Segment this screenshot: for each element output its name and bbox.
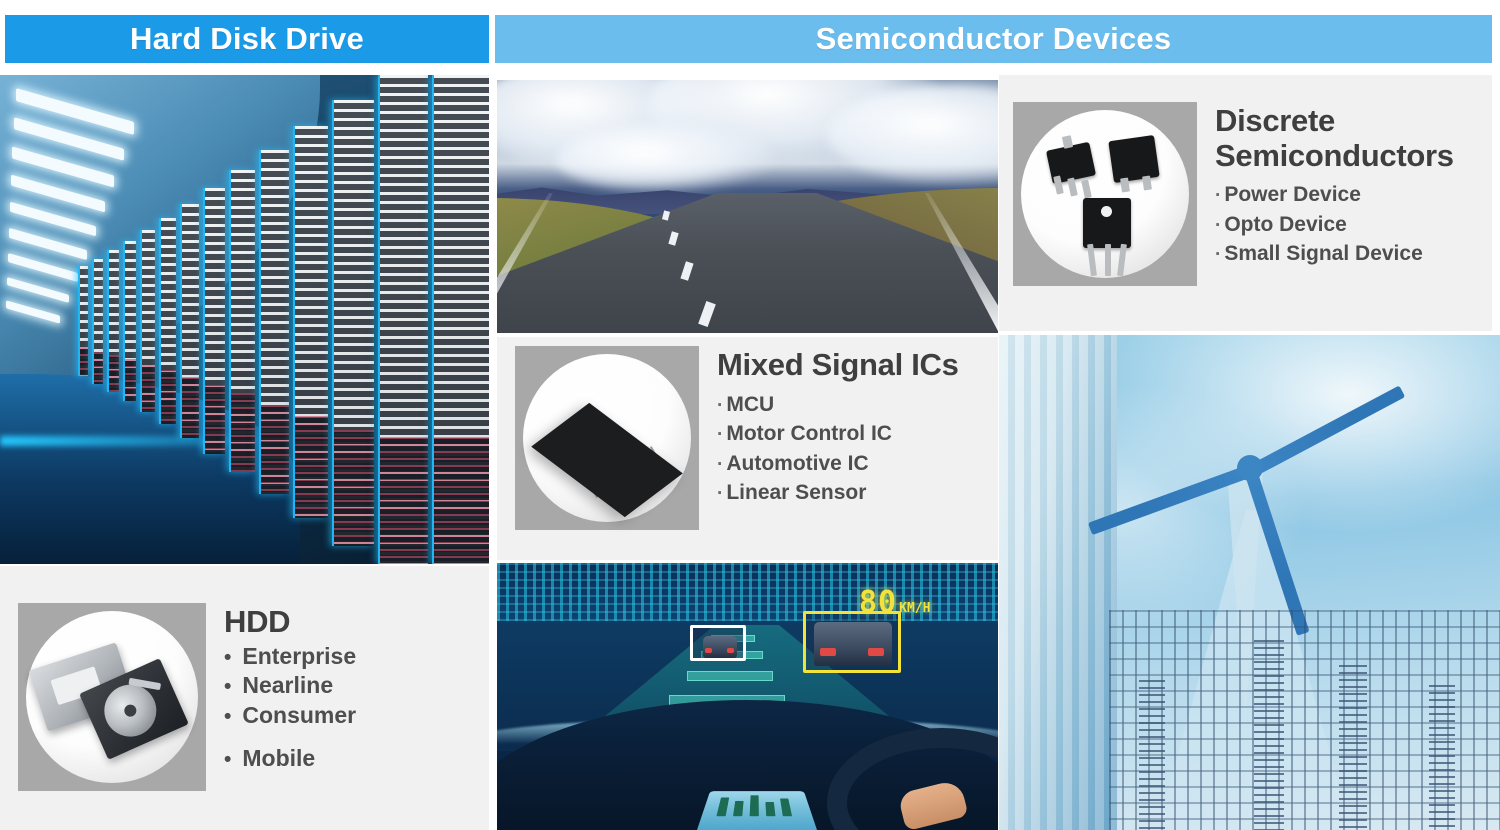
server-rack xyxy=(332,100,374,546)
slide-root: Hard Disk Drive Semiconductor Devices xyxy=(0,0,1500,830)
list-item-label: Motor Control IC xyxy=(726,419,892,448)
list-item[interactable]: · Linear Sensor xyxy=(717,478,959,507)
bullet-icon: · xyxy=(717,393,723,419)
card-discrete-title-line1: Discrete xyxy=(1215,104,1454,139)
bullet-icon: · xyxy=(717,422,723,448)
nav-bar xyxy=(733,801,744,816)
bullet-icon: • xyxy=(224,645,231,672)
server-rack xyxy=(140,230,155,412)
server-rack xyxy=(378,75,428,564)
list-item-label: Nearline xyxy=(242,671,333,700)
card-discrete-title: Discrete Semiconductors xyxy=(1215,104,1454,173)
list-item[interactable]: · Small Signal Device xyxy=(1215,239,1454,268)
nav-bar xyxy=(765,802,775,816)
bullet-icon: · xyxy=(717,452,723,478)
floor-led-glow xyxy=(0,436,300,446)
list-item[interactable]: • Mobile xyxy=(224,744,356,774)
hud-speed-value: 80 xyxy=(859,585,897,620)
card-hdd-body: HDD • Enterprise • Nearline • Consumer •… xyxy=(206,603,356,830)
server-rack xyxy=(229,170,255,472)
server-rack xyxy=(293,126,328,518)
card-discrete-list: · Power Device · Opto Device · Small Sig… xyxy=(1215,180,1454,268)
list-item-label: Consumer xyxy=(242,701,356,730)
list-item[interactable]: • Consumer xyxy=(224,701,356,731)
bullet-icon: • xyxy=(224,674,231,701)
list-item-label: MCU xyxy=(726,390,774,419)
taillight xyxy=(820,648,836,656)
cloud xyxy=(557,124,777,194)
car-adas-photo: 80KM/H xyxy=(497,563,998,830)
card-discrete-semiconductors[interactable]: Discrete Semiconductors · Power Device ·… xyxy=(999,75,1492,331)
bullet-icon: • xyxy=(224,747,231,774)
list-item[interactable]: • Nearline xyxy=(224,671,356,701)
server-rack xyxy=(180,204,199,438)
road-photo xyxy=(497,80,998,333)
card-discrete-title-line2: Semiconductors xyxy=(1215,139,1454,174)
server-rack xyxy=(432,75,489,564)
list-item[interactable]: · Motor Control IC xyxy=(717,419,959,448)
header-tab-semiconductor-devices[interactable]: Semiconductor Devices xyxy=(495,15,1492,63)
nav-bar xyxy=(780,799,792,817)
nav-bar xyxy=(716,797,729,816)
transmission-pylon xyxy=(1139,680,1165,830)
hud-speed-unit: KM/H xyxy=(899,601,930,616)
list-item[interactable]: • Enterprise xyxy=(224,642,356,672)
list-item-label: Automotive IC xyxy=(726,449,868,478)
taillight xyxy=(868,648,884,656)
header-tab-hard-disk-drive-label: Hard Disk Drive xyxy=(130,21,364,57)
list-item-label: Power Device xyxy=(1224,180,1361,209)
bullet-icon: · xyxy=(1215,183,1221,209)
bullet-icon: · xyxy=(1215,242,1221,268)
card-mixed-body: Mixed Signal ICs · MCU · Motor Control I… xyxy=(699,346,959,560)
industrial-machine xyxy=(999,335,1117,830)
card-mixed-title: Mixed Signal ICs xyxy=(717,348,959,383)
list-item[interactable]: · Opto Device xyxy=(1215,210,1454,239)
lane-marker xyxy=(687,671,773,681)
detected-vehicle-box xyxy=(803,611,901,673)
bullet-icon: · xyxy=(1215,213,1221,239)
transmission-pylon xyxy=(1429,685,1455,830)
server-rack xyxy=(159,218,176,424)
card-hdd-title: HDD xyxy=(224,605,356,640)
navigation-display[interactable] xyxy=(697,791,817,830)
datacenter-photo xyxy=(0,75,489,564)
list-item[interactable]: · MCU xyxy=(717,390,959,419)
list-item-label: Linear Sensor xyxy=(726,478,866,507)
transistor-packages-photo xyxy=(1013,102,1197,286)
transmission-pylon xyxy=(1254,640,1284,830)
list-item-label: Opto Device xyxy=(1224,210,1347,239)
vehicle-icon xyxy=(703,636,737,658)
hard-disk-drives-photo xyxy=(18,603,206,791)
dpak-package xyxy=(1108,135,1159,183)
card-mixed-signal-ics[interactable]: Mixed Signal ICs · MCU · Motor Control I… xyxy=(497,337,998,560)
server-rack xyxy=(203,188,225,454)
header-tab-semiconductor-devices-label: Semiconductor Devices xyxy=(816,21,1172,57)
hud-speed-readout: 80KM/H xyxy=(859,585,930,620)
transmission-pylon xyxy=(1339,665,1367,830)
list-item-label: Small Signal Device xyxy=(1224,239,1422,268)
card-hdd[interactable]: HDD • Enterprise • Nearline • Consumer •… xyxy=(0,566,489,830)
bullet-icon: • xyxy=(224,704,231,731)
turbine-hub xyxy=(1237,455,1263,481)
taillight xyxy=(705,648,712,653)
card-mixed-list: · MCU · Motor Control IC · Automotive IC… xyxy=(717,390,959,508)
list-item[interactable]: · Automotive IC xyxy=(717,449,959,478)
vehicle-icon xyxy=(814,622,892,666)
taillight xyxy=(727,648,734,653)
detected-vehicle-thumbnail xyxy=(690,625,746,661)
qfp-chip-photo xyxy=(515,346,699,530)
package-lead xyxy=(1105,244,1111,276)
mounting-hole xyxy=(1101,206,1112,217)
server-rack xyxy=(78,266,88,376)
energy-photo xyxy=(999,335,1500,830)
card-discrete-body: Discrete Semiconductors · Power Device ·… xyxy=(1197,102,1454,331)
server-rack xyxy=(259,150,289,494)
server-rack xyxy=(107,250,119,392)
header-tab-hard-disk-drive[interactable]: Hard Disk Drive xyxy=(5,15,489,63)
nav-bar xyxy=(750,795,759,816)
list-item-label: Enterprise xyxy=(242,642,356,671)
server-rack xyxy=(123,241,136,401)
bullet-icon: · xyxy=(717,481,723,507)
list-item-label: Mobile xyxy=(242,744,315,773)
server-rack xyxy=(92,259,103,384)
card-hdd-list: • Enterprise • Nearline • Consumer • Mob… xyxy=(224,642,356,774)
list-item[interactable]: · Power Device xyxy=(1215,180,1454,209)
